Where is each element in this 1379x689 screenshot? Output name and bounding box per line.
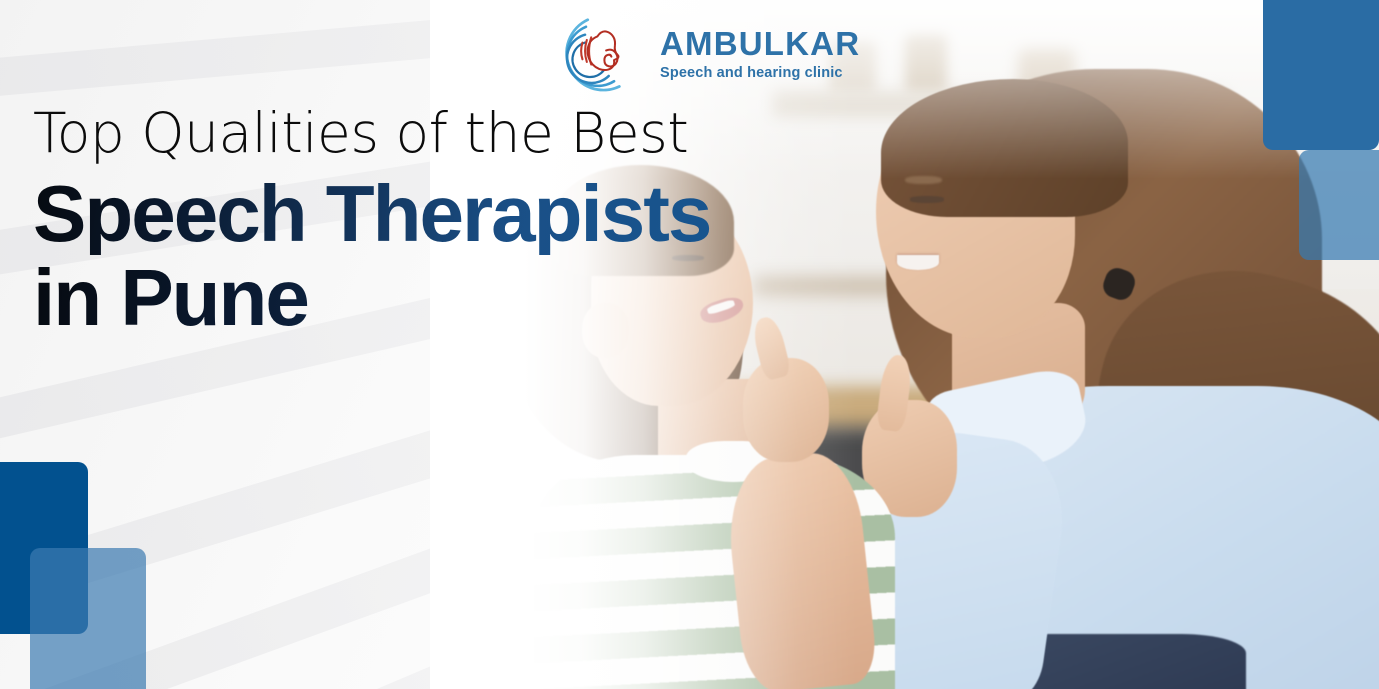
brand-logo[interactable]: AMBULKAR Speech and hearing clinic [556, 11, 860, 97]
headline-block: Top Qualities of the Best Speech Therapi… [33, 104, 710, 339]
woman-eye [910, 196, 944, 202]
headline-line-3: in Pune [33, 257, 710, 339]
ear-soundwave-icon [556, 11, 644, 97]
decor-square-top-right-light [1299, 150, 1379, 260]
logo-brand-name: AMBULKAR [660, 27, 860, 60]
kitchen-jar [905, 34, 948, 96]
logo-tagline: Speech and hearing clinic [660, 66, 860, 81]
logo-text: AMBULKAR Speech and hearing clinic [660, 27, 860, 81]
decor-square-bottom-left-light [30, 548, 146, 689]
decor-square-top-right-dark [1263, 0, 1379, 150]
headline-line-1: Top Qualities of the Best [33, 104, 710, 163]
headline-line-2: Speech Therapists [33, 173, 710, 255]
banner: AMBULKAR Speech and hearing clinic Top Q… [0, 0, 1379, 689]
woman-mouth [897, 255, 939, 270]
woman-eyebrow [905, 176, 943, 184]
